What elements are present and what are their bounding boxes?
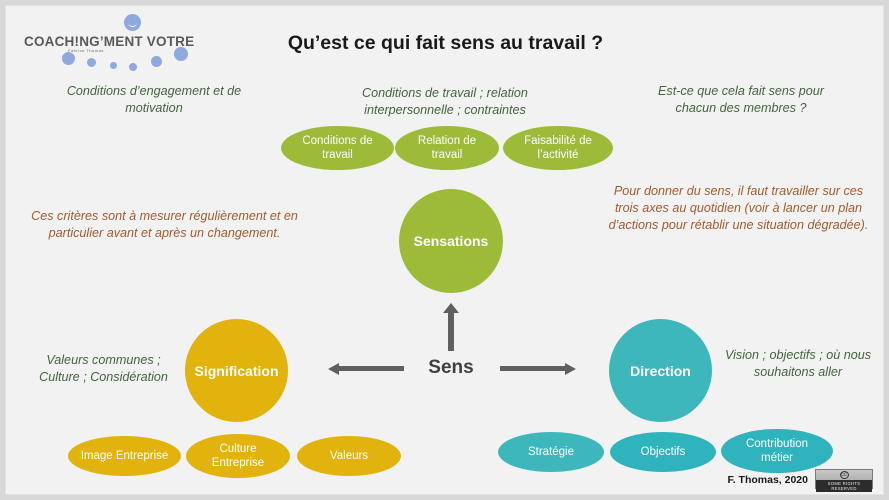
note-mid-right: Pour donner du sens, il faut travailler … bbox=[606, 183, 871, 234]
cc-license-text: SOME RIGHTS RESERVED bbox=[816, 480, 872, 492]
page-title: Qu’est ce qui fait sens au travail ? bbox=[6, 32, 884, 55]
note-top-left: Conditions d’engagement et de motivation bbox=[44, 83, 264, 117]
author-credit: F. Thomas, 2020 bbox=[727, 474, 808, 486]
ellipse-objectifs[interactable]: Objectifs bbox=[610, 432, 716, 472]
logo-dot bbox=[151, 56, 162, 67]
ellipse-conditions-travail[interactable]: Conditions de travail bbox=[281, 126, 394, 170]
note-top-center: Conditions de travail ; relation interpe… bbox=[342, 85, 548, 119]
circle-sensations[interactable]: Sensations bbox=[399, 189, 503, 293]
slide-canvas: COACH!NG’MENT VOTRE Fabrice Thomas Qu’es… bbox=[5, 5, 884, 495]
arrow-up bbox=[442, 303, 460, 351]
note-top-right: Est-ce que cela fait sens pour chacun de… bbox=[636, 83, 846, 117]
circle-direction[interactable]: Direction bbox=[609, 319, 712, 422]
circle-signification[interactable]: Signification bbox=[185, 319, 288, 422]
smiley-icon bbox=[124, 14, 141, 31]
ellipse-faisabilite-activite[interactable]: Faisabilité de l’activité bbox=[503, 126, 613, 170]
note-bottom-right: Vision ; objectifs ; où nous souhaitons … bbox=[718, 347, 878, 381]
logo-dot bbox=[129, 63, 137, 71]
ellipse-strategie[interactable]: Stratégie bbox=[498, 432, 604, 472]
note-bottom-left: Valeurs communes ; Culture ; Considérati… bbox=[26, 352, 181, 386]
arrow-right bbox=[500, 361, 576, 377]
logo-dot bbox=[110, 62, 117, 69]
creative-commons-badge: cc SOME RIGHTS RESERVED bbox=[815, 469, 873, 489]
ellipse-relation-travail[interactable]: Relation de travail bbox=[395, 126, 499, 170]
arrow-left bbox=[328, 361, 404, 377]
center-label-sens: Sens bbox=[425, 357, 477, 379]
ellipse-contribution-metier[interactable]: Contribution métier bbox=[721, 429, 833, 473]
ellipse-valeurs[interactable]: Valeurs bbox=[297, 436, 401, 476]
logo-dot bbox=[87, 58, 96, 67]
ellipse-culture-entreprise[interactable]: Culture Entreprise bbox=[186, 434, 290, 478]
cc-icon: cc bbox=[840, 471, 849, 479]
note-mid-left: Ces critères sont à mesurer régulièremen… bbox=[27, 208, 302, 242]
ellipse-image-entreprise[interactable]: Image Entreprise bbox=[68, 436, 181, 476]
